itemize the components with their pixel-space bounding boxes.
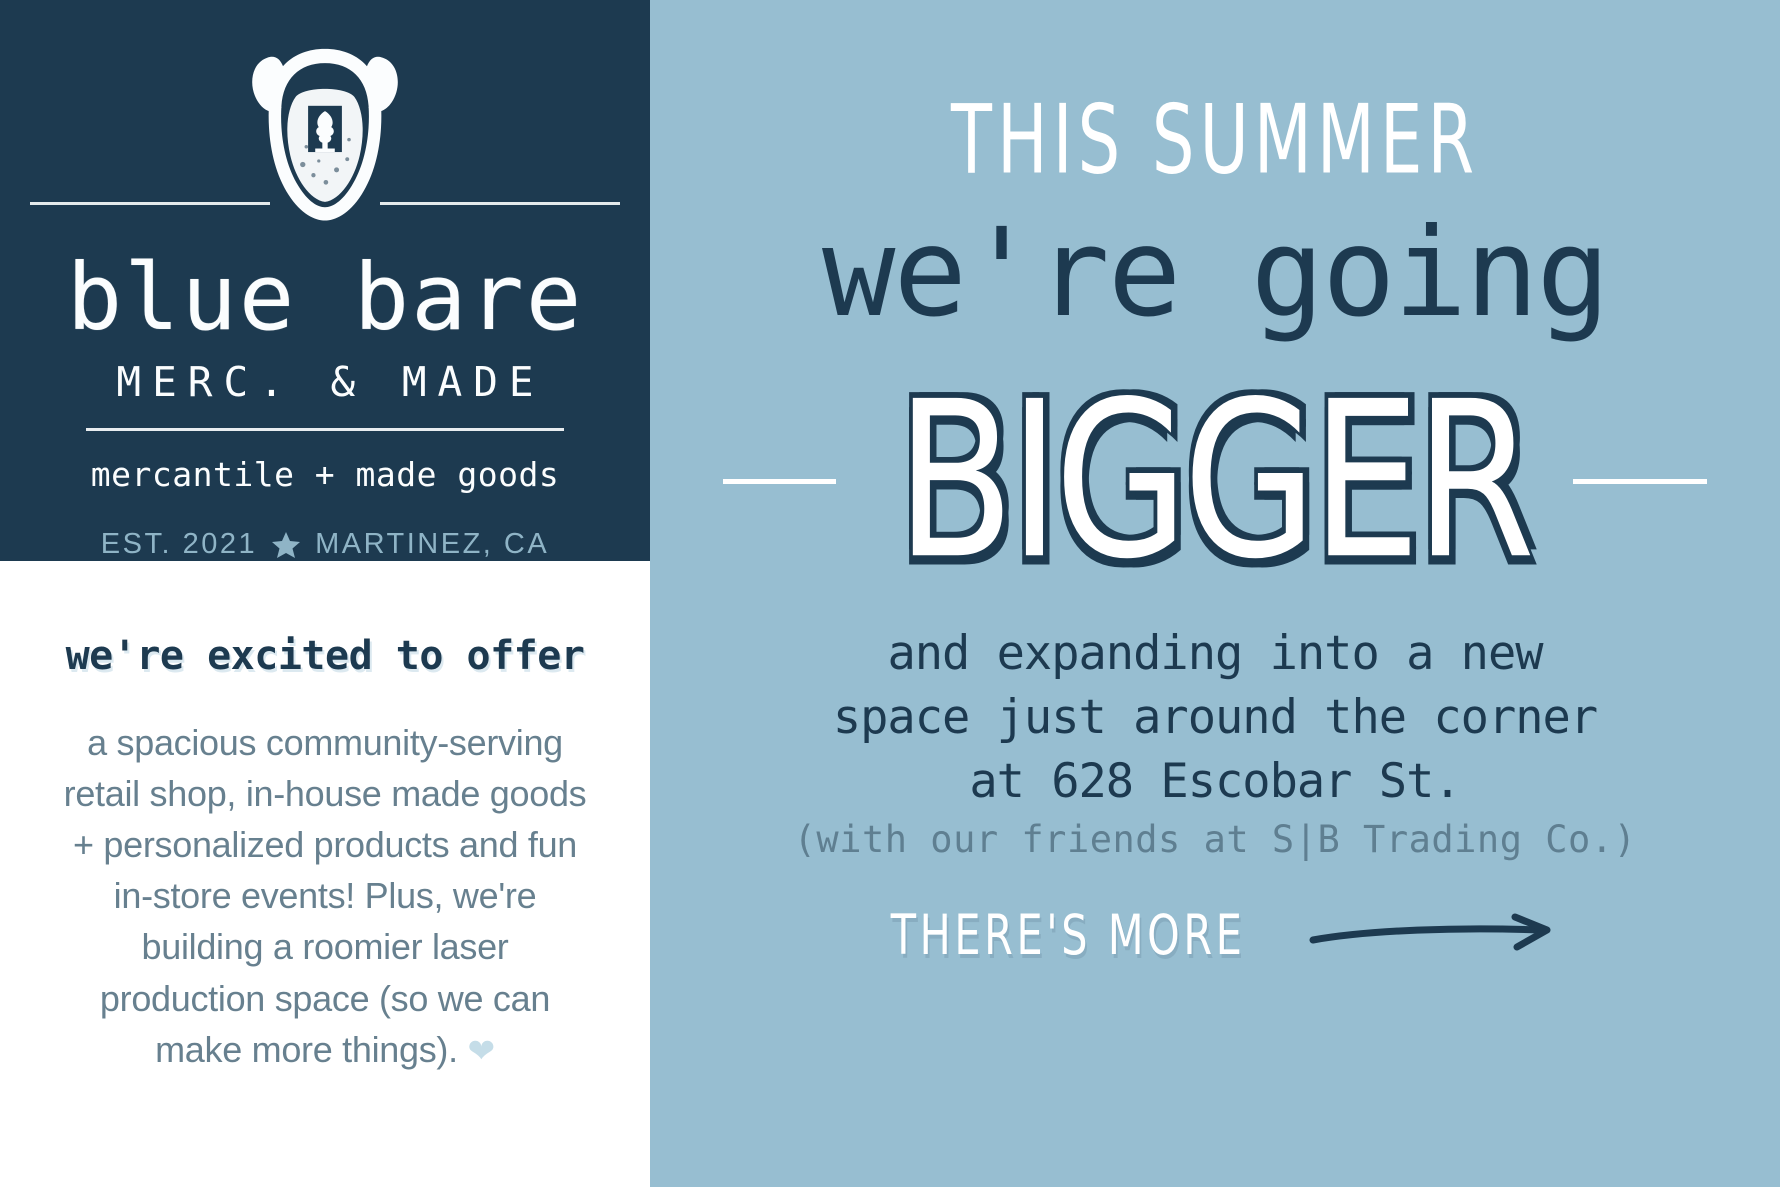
announcement-kicker: THIS SUMMER <box>951 86 1479 196</box>
rule-left <box>30 202 270 205</box>
heart-icon: ❤ <box>468 1032 495 1069</box>
cta-label[interactable]: THERE'S MORE <box>891 903 1246 968</box>
offer-body-copy: a spacious community-serving retail shop… <box>64 722 587 1070</box>
cta-row[interactable]: THERE'S MORE <box>650 908 1780 962</box>
brand-tagline: mercantile + made goods <box>91 455 559 494</box>
headline-rule-right <box>1573 479 1707 484</box>
bear-head-icon <box>230 40 420 222</box>
offer-body-text: a spacious community-serving retail shop… <box>55 717 595 1075</box>
detail-line-1: and expanding into a new <box>650 622 1780 686</box>
headline-rule-left <box>723 479 836 484</box>
detail-line-2: space just around the corner <box>650 686 1780 750</box>
established-label: EST. 2021 <box>101 528 257 561</box>
announcement-detail: and expanding into a new space just arou… <box>650 622 1780 814</box>
left-column: blue bare MERC. & MADE mercantile + made… <box>0 0 650 1187</box>
brand-divider-rule <box>86 428 564 431</box>
announcement-subheadline: we're going <box>822 212 1608 334</box>
location-label: MARTINEZ, CA <box>315 528 549 561</box>
brand-wordmark: blue bare <box>67 252 584 344</box>
arrow-right-icon[interactable] <box>1309 913 1559 957</box>
star-icon <box>271 530 301 560</box>
promo-poster: blue bare MERC. & MADE mercantile + made… <box>0 0 1780 1187</box>
headline-row: BIGGER <box>650 392 1780 571</box>
logo-flanking-rules <box>0 202 650 205</box>
offer-block: we're excited to offer a spacious commun… <box>0 561 650 1187</box>
established-location-line: EST. 2021 MARTINEZ, CA <box>101 528 549 561</box>
announcement-headline: BIGGER <box>896 378 1530 585</box>
rule-right <box>380 202 620 205</box>
brand-subtitle: MERC. & MADE <box>105 358 544 406</box>
brand-panel: blue bare MERC. & MADE mercantile + made… <box>0 0 650 561</box>
offer-heading: we're excited to offer <box>66 633 585 679</box>
right-column: THIS SUMMER we're going BIGGER and expan… <box>650 0 1780 1187</box>
detail-line-3: at 628 Escobar St. <box>650 750 1780 814</box>
partner-note: (with our friends at S|B Trading Co.) <box>650 818 1780 861</box>
